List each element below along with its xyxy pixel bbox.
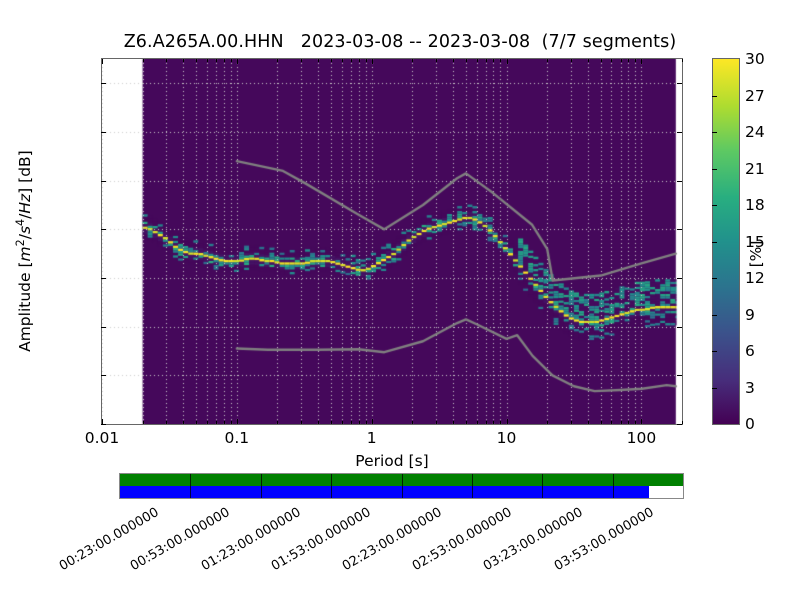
x-axis-minor-tick [628,59,629,62]
x-axis-minor-tick [196,421,197,424]
y-axis-tick-mark [677,132,682,133]
ppsd-heatmap [102,59,682,424]
x-axis-minor-tick [477,59,478,62]
ppsd-plot-axes [101,58,683,425]
x-axis-minor-tick [224,59,225,62]
x-axis-minor-tick [412,421,413,424]
x-axis-minor-tick [601,59,602,62]
x-axis-tick-mark [372,59,373,64]
x-axis-minor-tick [621,421,622,424]
x-axis-tick-mark [641,59,642,64]
x-axis-minor-tick [477,421,478,424]
x-axis-minor-tick [318,421,319,424]
x-axis-tick-label: 1 [367,429,377,447]
timeline-divider [190,474,191,498]
x-axis-minor-tick [486,59,487,62]
x-axis-tick-label: 100 [627,429,657,447]
x-axis-tick-mark [102,419,103,424]
x-axis-minor-tick [453,59,454,62]
x-axis-minor-tick [412,59,413,62]
y-axis-tick-mark [101,229,106,230]
x-axis-minor-tick [493,421,494,424]
colorbar-tick-label: 30 [745,50,765,68]
y-axis-tick-mark [677,83,682,84]
colorbar-tick-mark [712,132,717,133]
y-axis-tick-mark [677,327,682,328]
x-axis-minor-tick [301,59,302,62]
timeline-time-label: 02:23:00.000000 [307,505,444,593]
x-axis-minor-tick [601,421,602,424]
x-axis-minor-tick [166,59,167,62]
x-axis-minor-tick [318,59,319,62]
y-axis-tick-mark [677,375,682,376]
x-axis-tick-label: 10 [497,429,517,447]
colorbar-tick-mark [712,278,717,279]
timeline-gap-segment [120,486,649,498]
x-axis-minor-tick [682,59,683,62]
x-axis-tick-mark [237,419,238,424]
x-axis-tick-mark [372,419,373,424]
x-axis-minor-tick [500,421,501,424]
y-axis-tick-mark [677,229,682,230]
x-axis-minor-tick [183,421,184,424]
x-axis-label: Period [s] [101,452,683,470]
x-axis-minor-tick [342,421,343,424]
timeline-time-label: 03:23:00.000000 [448,505,585,593]
y-axis-tick-mark [677,278,682,279]
y-axis-tick-mark [101,375,106,376]
x-axis-minor-tick [635,59,636,62]
x-axis-minor-tick [331,59,332,62]
timeline-divider [613,474,614,498]
x-axis-minor-tick [331,421,332,424]
y-axis-tick-mark [101,132,106,133]
x-axis-tick-label: 0.1 [225,429,250,447]
x-axis-tick-mark [641,419,642,424]
x-axis-minor-tick [366,421,367,424]
x-axis-tick-mark [507,59,508,64]
colorbar-tick-label: 27 [745,87,765,105]
x-axis-minor-tick [216,421,217,424]
colorbar-tick-mark [712,169,717,170]
x-axis-minor-tick [207,59,208,62]
y-axis-tick-mark [101,83,106,84]
x-axis-minor-tick [351,421,352,424]
x-axis-minor-tick [500,59,501,62]
x-axis-minor-tick [611,421,612,424]
x-axis-minor-tick [486,421,487,424]
timeline-time-label: 02:53:00.000000 [378,505,515,593]
x-axis-minor-tick [588,421,589,424]
page-title: Z6.A265A.00.HHN 2023-03-08 -- 2023-03-08… [0,32,800,52]
x-axis-minor-tick [216,59,217,62]
x-axis-minor-tick [359,421,360,424]
x-axis-minor-tick [342,59,343,62]
colorbar-tick-mark [712,96,717,97]
x-axis-minor-tick [224,421,225,424]
x-axis-minor-tick [351,59,352,62]
timeline-time-label: 03:53:00.000000 [519,505,656,593]
x-axis-minor-tick [143,59,144,62]
timeline-divider [542,474,543,498]
y-axis-tick-mark [101,181,106,182]
y-axis-label: Amplitude [m2/s4/Hz] [dB] [14,101,34,401]
colorbar-tick-label: 24 [745,123,765,141]
colorbar-tick-mark [712,205,717,206]
x-axis-minor-tick [183,59,184,62]
colorbar-tick-mark [712,315,717,316]
timeline-divider [402,474,403,498]
timeline-time-label: 01:23:00.000000 [166,505,303,593]
colorbar-unit-label: [%] [747,144,765,364]
x-axis-minor-tick [547,421,548,424]
x-axis-tick-mark [102,59,103,64]
x-axis-minor-tick [628,421,629,424]
x-axis-minor-tick [621,59,622,62]
x-axis-tick-mark [507,419,508,424]
x-axis-minor-tick [196,59,197,62]
x-axis-minor-tick [436,59,437,62]
x-axis-minor-tick [301,421,302,424]
x-axis-minor-tick [207,421,208,424]
y-axis-tick-mark [677,424,682,425]
x-axis-minor-tick [571,421,572,424]
colorbar-tick-mark [712,388,717,389]
x-axis-minor-tick [366,59,367,62]
x-axis-minor-tick [547,59,548,62]
x-axis-minor-tick [682,421,683,424]
x-axis-minor-tick [493,59,494,62]
x-axis-minor-tick [635,421,636,424]
timeline-time-label: 01:53:00.000000 [236,505,373,593]
y-axis-tick-mark [101,278,106,279]
colorbar-tick-mark [712,351,717,352]
x-axis-minor-tick [611,59,612,62]
x-axis-minor-tick [588,59,589,62]
colorbar-tick-label: 0 [745,415,755,433]
colorbar-tick-label: 3 [745,379,755,397]
x-axis-tick-mark [237,59,238,64]
x-axis-minor-tick [571,59,572,62]
x-axis-minor-tick [466,59,467,62]
x-axis-minor-tick [277,421,278,424]
x-axis-minor-tick [277,59,278,62]
x-axis-minor-tick [359,59,360,62]
timeline-divider [331,474,332,498]
x-axis-minor-tick [166,421,167,424]
timeline-time-label: 00:53:00.000000 [95,505,232,593]
y-axis-tick-mark [101,424,106,425]
x-axis-minor-tick [436,421,437,424]
x-axis-minor-tick [231,59,232,62]
timeline-divider [472,474,473,498]
timeline-divider [261,474,262,498]
timeline-coverage-bars[interactable] [119,473,684,499]
x-axis-minor-tick [453,421,454,424]
y-axis-tick-mark [101,327,106,328]
x-axis-minor-tick [231,421,232,424]
x-axis-minor-tick [143,421,144,424]
x-axis-minor-tick [466,421,467,424]
colorbar-tick-mark [712,242,717,243]
y-axis-tick-mark [677,181,682,182]
timeline-time-label: 00:23:00.000000 [24,505,161,593]
x-axis-tick-label: 0.01 [85,429,120,447]
